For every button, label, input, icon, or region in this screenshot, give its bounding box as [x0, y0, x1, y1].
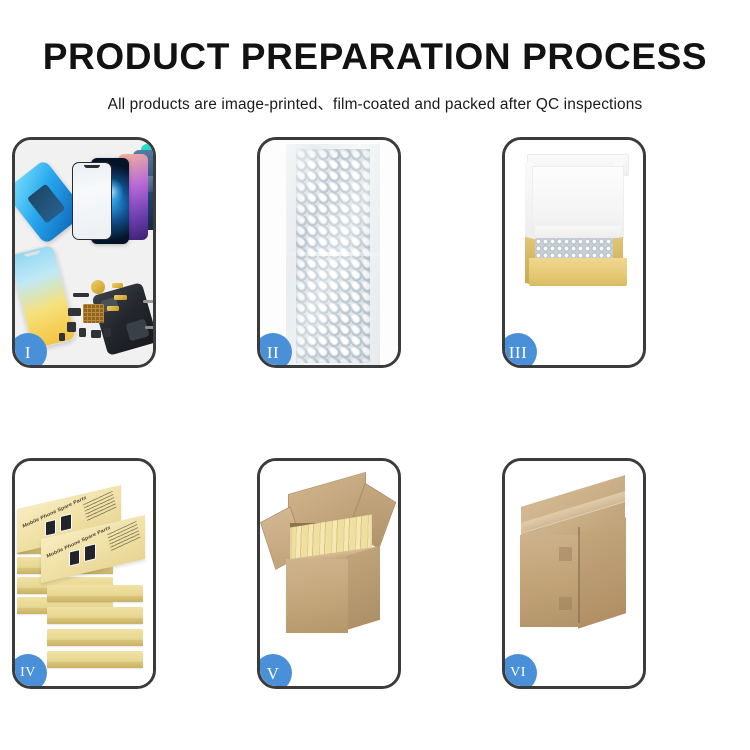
part-ic-array-icon	[83, 304, 104, 323]
part-tool-tweezers-icon	[143, 300, 153, 303]
box-window-screen-icon	[69, 549, 80, 567]
box-window-screen-icon	[45, 519, 56, 537]
bubble-wrap-seam-icon	[286, 252, 380, 256]
spare-part-box	[47, 585, 143, 602]
spare-part-box	[47, 651, 143, 668]
step-3-illustration	[505, 140, 643, 365]
carton-side-panel-icon	[578, 517, 626, 629]
step-badge-1: I	[12, 333, 47, 368]
box-window-screen-icon	[84, 543, 96, 562]
step-badge-3: III	[502, 333, 537, 368]
part-antenna-icon	[107, 306, 119, 311]
spare-part-box	[47, 629, 143, 646]
box-spec-lines-icon	[83, 491, 117, 523]
screen-protector-icon	[72, 162, 112, 240]
process-step-6: VI	[502, 458, 646, 689]
step-5-illustration	[260, 461, 398, 686]
step-1-illustration	[15, 140, 153, 365]
box-spec-lines-icon	[107, 521, 141, 553]
part-coil-icon	[91, 280, 105, 294]
header: PRODUCT PREPARATION PROCESS All products…	[0, 0, 750, 114]
process-step-4: Mobile Phone Spare Parts Mobile Phone Sp…	[12, 458, 156, 689]
process-step-1: I	[12, 137, 156, 368]
carton-corner-seam-icon	[578, 527, 580, 623]
spare-part-box	[47, 607, 143, 624]
product-preparation-infographic: PRODUCT PREPARATION PROCESS All products…	[0, 0, 750, 750]
step-2-illustration	[260, 140, 398, 365]
carton-tab-lower-icon	[559, 597, 572, 610]
part-connector-icon	[68, 308, 81, 316]
carton-front-panel-icon	[286, 559, 348, 633]
step-badge-5: V	[257, 654, 292, 689]
carton-side-panel-icon	[346, 546, 380, 630]
part-tool-driver-icon	[145, 326, 153, 329]
page-title: PRODUCT PREPARATION PROCESS	[0, 0, 750, 75]
process-step-2: II	[257, 137, 401, 368]
step-badge-4: IV	[12, 654, 47, 689]
step-badge-2: II	[257, 333, 292, 368]
part-screw-set-icon	[59, 333, 65, 341]
phone-notch-icon	[24, 250, 40, 257]
box-window-screen-icon	[60, 513, 72, 532]
process-step-grid: I II III	[12, 137, 739, 737]
part-speaker-icon	[73, 293, 89, 297]
part-flex-cable-icon	[112, 283, 123, 288]
phone-notch-icon	[84, 165, 100, 168]
part-button-flex-icon	[114, 295, 127, 300]
step-6-illustration	[505, 461, 643, 686]
bubble-wrap-gloss-icon	[296, 149, 370, 363]
part-sensor-icon	[79, 328, 86, 337]
process-step-5: V	[257, 458, 401, 689]
mailer-front-panel-icon	[529, 258, 627, 286]
step-badge-6: VI	[502, 654, 537, 689]
part-vibrator-icon	[91, 330, 101, 338]
page-subtitle: All products are image-printed、film-coat…	[0, 75, 750, 114]
part-camera-icon	[67, 322, 76, 332]
process-step-3: III	[502, 137, 646, 368]
carton-tab-upper-icon	[559, 547, 572, 561]
step-4-illustration: Mobile Phone Spare Parts Mobile Phone Sp…	[15, 461, 153, 686]
part-sim-tray-icon	[104, 328, 111, 337]
